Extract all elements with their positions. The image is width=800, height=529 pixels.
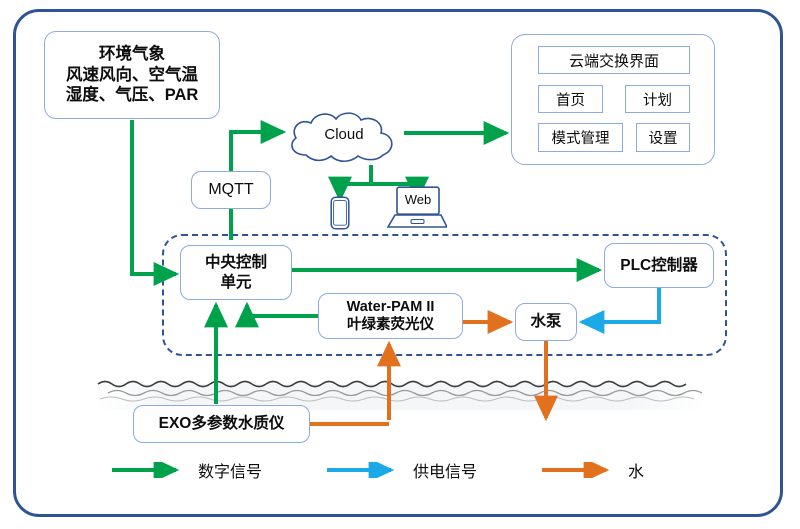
ccu-line-1: 中央控制 [205,253,267,272]
legend-arrow-orange-icon [540,462,618,478]
cloud-ui-button-home[interactable]: 首页 [538,85,603,113]
legend-arrow-blue-icon [325,462,403,478]
node-exo-multiparameter-sonde[interactable]: EXO多参数水质仪 [133,405,310,443]
node-environment-weather[interactable]: 环境气象 风速风向、空气温 湿度、气压、PAR [44,31,220,119]
legend-arrow-green-icon [110,462,188,478]
pam-line-1: Water-PAM II [347,298,435,316]
legend-item-power-signal: 供电信号 [325,455,477,485]
mqtt-label: MQTT [208,180,253,200]
legend-label-water: 水 [628,458,644,482]
node-water-pam-ii[interactable]: Water-PAM II 叶绿素荧光仪 [318,293,463,339]
plc-label: PLC控制器 [620,256,698,275]
env-line-1: 环境气象 [99,44,165,65]
laptop-web-label: Web [397,192,439,207]
pam-line-2: 叶绿素荧光仪 [347,316,434,334]
cloud-ui-button-settings[interactable]: 设置 [636,123,690,152]
env-line-3: 湿度、气压、PAR [66,85,199,106]
legend-item-digital-signal: 数字信号 [110,455,262,485]
diagram-canvas: 环境气象 风速风向、空气温 湿度、气压、PAR MQTT 中央控制 单元 Wat… [0,0,800,529]
legend: 数字信号 供电信号 水 [110,455,690,489]
node-water-pump[interactable]: 水泵 [515,303,577,341]
exo-label: EXO多参数水质仪 [159,414,285,433]
cloud-exchange-panel: 云端交换界面 首页 计划 模式管理 设置 [511,34,715,165]
legend-item-water: 水 [540,455,644,485]
node-mqtt[interactable]: MQTT [191,171,271,209]
cloud-ui-title: 云端交换界面 [538,46,690,74]
ccu-line-2: 单元 [220,273,251,292]
pump-label: 水泵 [530,312,561,331]
node-plc-controller[interactable]: PLC控制器 [604,243,714,288]
smartphone-icon [330,196,350,230]
legend-label-power-signal: 供电信号 [413,458,477,482]
cloud-ui-button-mode-management[interactable]: 模式管理 [538,123,623,152]
cloud-ui-button-plan[interactable]: 计划 [625,85,690,113]
legend-label-digital-signal: 数字信号 [198,458,262,482]
cloud-label: Cloud [284,126,404,143]
node-central-control-unit[interactable]: 中央控制 单元 [180,245,292,300]
env-line-2: 风速风向、空气温 [66,65,198,86]
